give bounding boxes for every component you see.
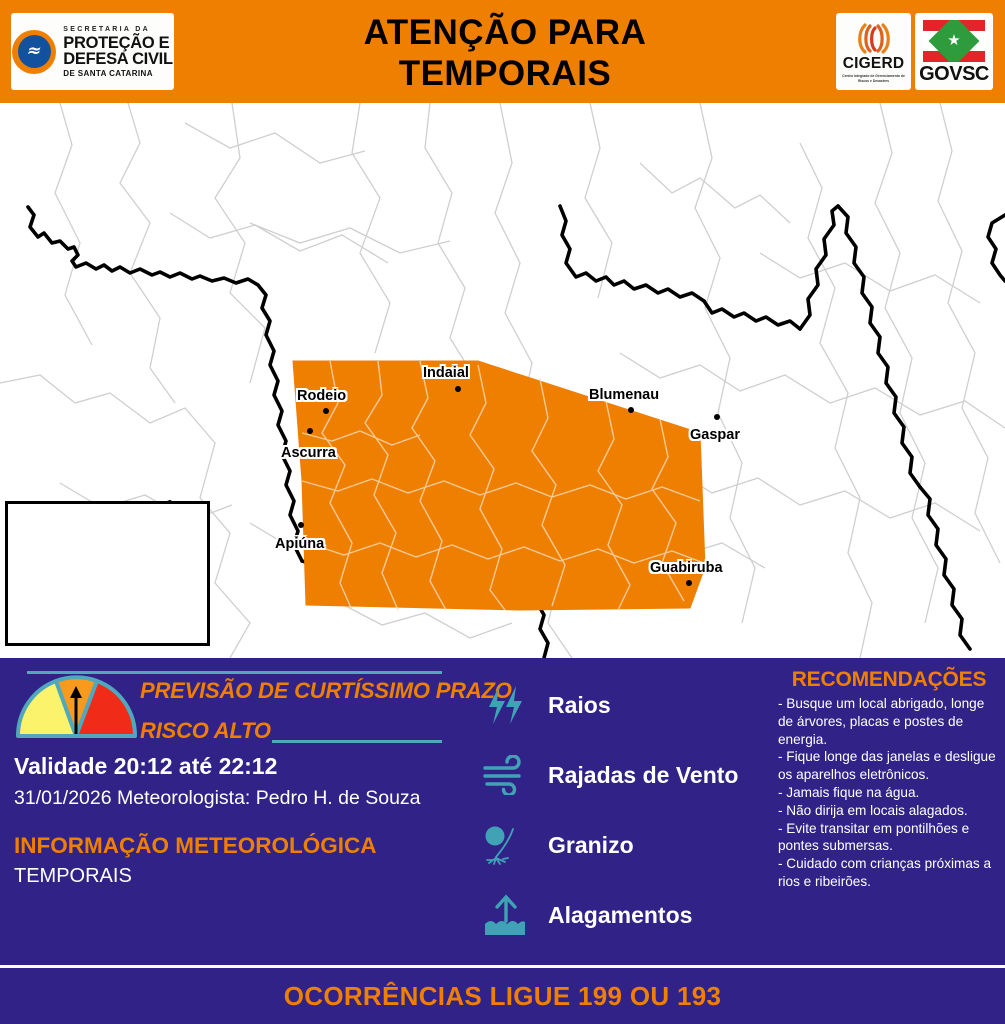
validity-text: Validade 20:12 até 22:12 [14, 753, 277, 780]
civil-defense-logo: ≈ SECRETARIA DA PROTEÇÃO E DEFESA CIVIL … [11, 13, 174, 90]
cigerd-wave-icon [851, 20, 897, 54]
risk-gauge-icon [14, 672, 139, 740]
city-label-apiuna: Apiúna [275, 536, 324, 552]
recommendations-title: RECOMENDAÇÕES [778, 668, 1000, 691]
city-dot-indaial [455, 386, 461, 392]
city-dot-apiuna [298, 522, 304, 528]
meteo-info-body: TEMPORAIS [14, 865, 132, 888]
recommendation-item: - Busque um local abrigado, longe de árv… [778, 695, 1000, 748]
pdc-logo-line1: SECRETARIA DA [63, 26, 172, 33]
state-inset-frame [5, 501, 210, 646]
city-dot-guabiruba [686, 580, 692, 586]
alert-poster: ≈ SECRETARIA DA PROTEÇÃO E DEFESA CIVIL … [0, 0, 1005, 1024]
risk-gauge [14, 672, 139, 740]
info-panel: PREVISÃO DE CURTÍSSIMO PRAZO RISCO ALTO … [0, 658, 1005, 965]
cigerd-name: CIGERD [843, 55, 904, 73]
hazard-label-granizo: Granizo [548, 832, 634, 859]
hazard-label-alagamentos: Alagamentos [548, 902, 692, 929]
govsc-sc: SC [962, 63, 989, 85]
cigerd-logo: CIGERD Centro Integrado de Gerenciamento… [836, 13, 911, 90]
recommendation-item: - Evite transitar em pontilhões e pontes… [778, 820, 1000, 856]
hazard-item-vento: Rajadas de Vento [483, 740, 743, 810]
santa-catarina-flag-icon: ★ [923, 20, 985, 62]
govsc-logo: ★ GOVSC [915, 13, 993, 90]
recommendation-item: - Cuidado com crianças próximas a rios e… [778, 855, 1000, 891]
page-title-line2: TEMPORAIS [200, 53, 810, 94]
city-label-gaspar: Gaspar [690, 427, 740, 443]
city-dot-ascurra [307, 428, 313, 434]
poster-header: ≈ SECRETARIA DA PROTEÇÃO E DEFESA CIVIL … [0, 0, 1005, 103]
wind-gust-icon [483, 751, 531, 799]
city-dot-gaspar [714, 414, 720, 420]
forecast-type-label: PREVISÃO DE CURTÍSSIMO PRAZO [140, 678, 512, 704]
cigerd-subtitle: Centro Integrado de Gerenciamento de Ris… [841, 74, 907, 83]
city-label-indaial: Indaial [423, 365, 469, 381]
recommendations-block: RECOMENDAÇÕES - Busque um local abrigado… [778, 668, 1000, 891]
city-label-guabiruba: Guabiruba [650, 560, 723, 576]
divider-bottom [272, 740, 442, 743]
alert-map[interactable]: Indaial Rodeio Blumenau Gaspar Ascurra A… [0, 103, 1005, 658]
hazard-item-alagamentos: Alagamentos [483, 880, 743, 950]
govsc-wordmark: GOVSC [919, 64, 989, 84]
meteo-info-heading: INFORMAÇÃO METEOROLÓGICA [14, 833, 376, 859]
pdc-logo-line4: DE SANTA CATARINA [63, 70, 172, 78]
recommendation-item: - Não dirija em locais alagados. [778, 802, 1000, 820]
recommendations-list: - Busque um local abrigado, longe de árv… [778, 695, 1000, 891]
lightning-bolt-icon [483, 681, 531, 729]
hazard-label-raios: Raios [548, 692, 611, 719]
city-label-rodeio: Rodeio [297, 388, 346, 404]
risk-level-label: RISCO ALTO [140, 718, 271, 744]
hazard-item-granizo: Granizo [483, 810, 743, 880]
footer-bar: OCORRÊNCIAS LIGUE 199 OU 193 [0, 968, 1005, 1024]
recommendation-item: - Fique longe das janelas e desligue os … [778, 748, 1000, 784]
pdc-logo-line2: PROTEÇÃO E [63, 35, 172, 52]
recommendation-item: - Jamais fique na água. [778, 784, 1000, 802]
meteorologist-text: 31/01/2026 Meteorologista: Pedro H. de S… [14, 787, 421, 810]
pdc-logo-line3: DEFESA CIVIL [63, 51, 172, 68]
page-title-line1: ATENÇÃO PARA [200, 12, 810, 53]
govsc-gov: GOV [919, 63, 962, 85]
city-label-ascurra: Ascurra [281, 445, 336, 461]
hazard-label-vento: Rajadas de Vento [548, 762, 738, 789]
emergency-phone-text: OCORRÊNCIAS LIGUE 199 OU 193 [284, 981, 722, 1012]
page-title: ATENÇÃO PARA TEMPORAIS [200, 12, 810, 95]
city-dot-rodeio [323, 408, 329, 414]
hail-icon [483, 821, 531, 869]
civil-defense-badge-icon: ≈ [12, 30, 56, 74]
city-dot-blumenau [628, 407, 634, 413]
hazard-item-raios: Raios [483, 670, 743, 740]
flood-icon [483, 891, 531, 939]
city-label-blumenau: Blumenau [589, 387, 659, 403]
hazard-list: Raios Rajadas de Vento [483, 670, 743, 950]
